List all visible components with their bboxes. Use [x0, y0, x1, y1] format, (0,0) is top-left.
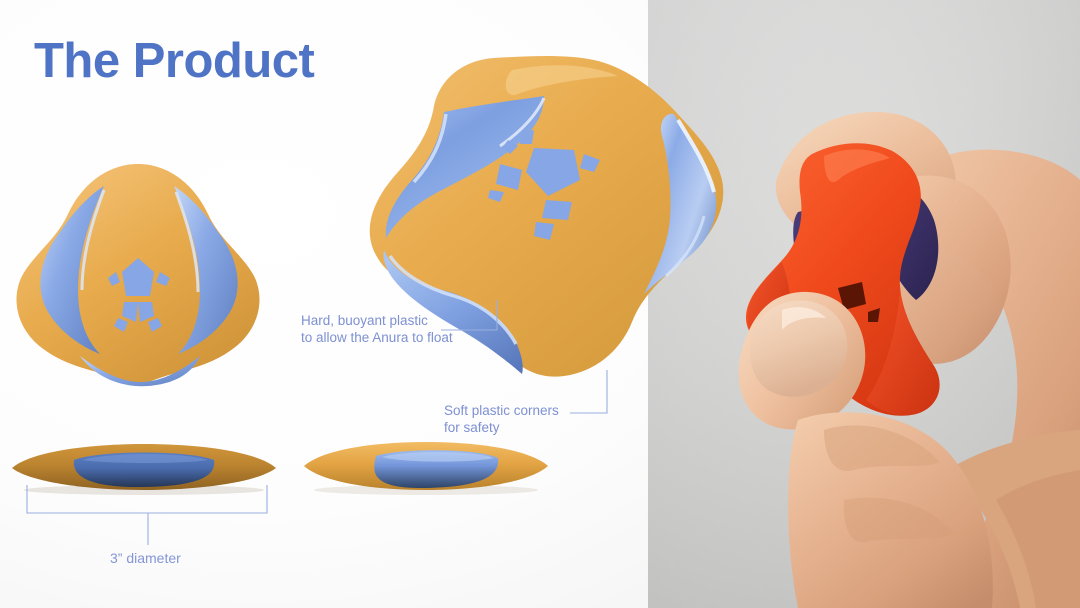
annotation-soft-corners-line1: Soft plastic corners: [444, 403, 559, 420]
dimension-label-diameter: 3” diameter: [110, 550, 181, 566]
annotation-hard-plastic-line1: Hard, buoyant plastic: [301, 313, 453, 330]
annotation-hard-plastic: Hard, buoyant plastic to allow the Anura…: [301, 313, 453, 346]
top-view-small: [8, 150, 268, 400]
product-slide: The Product: [0, 0, 1080, 608]
annotation-hard-plastic-line2: to allow the Anura to float: [301, 330, 453, 347]
annotation-soft-corners: Soft plastic corners for safety: [444, 403, 559, 436]
main-perspective-view: [322, 50, 742, 400]
annotation-soft-corners-line2: for safety: [444, 420, 559, 437]
page-title: The Product: [34, 33, 314, 89]
side-profile-left: [8, 432, 280, 502]
side-profile-right: [300, 432, 552, 502]
